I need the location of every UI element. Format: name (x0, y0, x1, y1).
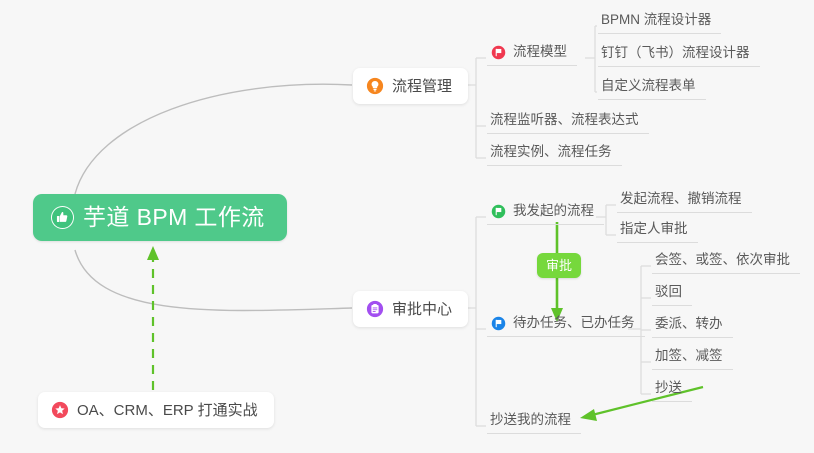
node-reject[interactable]: 驳回 (652, 281, 692, 306)
label-bpmn-designer: BPMN 流程设计器 (601, 12, 711, 28)
flag-icon (491, 316, 506, 331)
node-cc[interactable]: 抄送 (652, 377, 692, 402)
node-instance-task[interactable]: 流程实例、流程任务 (487, 141, 622, 166)
root-node[interactable]: 芋道 BPM 工作流 (33, 194, 287, 241)
branch-label-process-management: 流程管理 (392, 79, 452, 94)
label-todo-done-tasks: 待办任务、已办任务 (513, 315, 635, 331)
flag-icon (491, 45, 506, 60)
clipboard-icon (366, 300, 384, 318)
edge-root-to-approval-center (75, 250, 352, 311)
callout-arrowhead (147, 246, 159, 260)
node-assignee-approval[interactable]: 指定人审批 (617, 218, 698, 243)
branch-node-approval-center[interactable]: 审批中心 (353, 291, 468, 327)
label-instance-task: 流程实例、流程任务 (490, 144, 612, 160)
label-start-cancel-process: 发起流程、撤销流程 (620, 191, 742, 207)
flag-icon (491, 204, 506, 219)
node-process-model[interactable]: 流程模型 (487, 41, 577, 66)
annotation-arrowhead-cc (580, 409, 597, 421)
node-cc-to-me[interactable]: 抄送我的流程 (487, 409, 581, 434)
branch-node-process-management[interactable]: 流程管理 (353, 68, 468, 104)
label-add-remove-sign: 加签、减签 (655, 348, 723, 364)
label-process-model: 流程模型 (513, 44, 567, 60)
node-add-remove-sign[interactable]: 加签、减签 (652, 345, 733, 370)
root-label: 芋道 BPM 工作流 (83, 206, 265, 229)
star-icon (51, 401, 69, 419)
node-custom-process-form[interactable]: 自定义流程表单 (598, 75, 706, 100)
mindmap-canvas: 芋道 BPM 工作流 流程管理 流程模型 BPMN 流程设计器 钉钉（飞书）流程 (0, 0, 814, 453)
node-listener-expression[interactable]: 流程监听器、流程表达式 (487, 109, 649, 134)
label-listener-expression: 流程监听器、流程表达式 (490, 112, 639, 128)
label-assignee-approval: 指定人审批 (620, 221, 688, 237)
edge-root-to-process-management (75, 84, 352, 194)
branch-label-approval-center: 审批中心 (392, 302, 452, 317)
node-my-started-processes[interactable]: 我发起的流程 (487, 200, 604, 225)
label-countersign-or-sequential: 会签、或签、依次审批 (655, 252, 790, 268)
label-cc-to-me: 抄送我的流程 (490, 412, 571, 428)
label-dingtalk-feishu-designer: 钉钉（飞书）流程设计器 (601, 45, 750, 61)
thumbs-up-icon (51, 206, 74, 229)
label-my-started-processes: 我发起的流程 (513, 203, 594, 219)
node-bpmn-designer[interactable]: BPMN 流程设计器 (598, 9, 721, 34)
label-cc: 抄送 (655, 380, 682, 396)
node-todo-done-tasks[interactable]: 待办任务、已办任务 (487, 312, 645, 337)
callout-node-integration[interactable]: OA、CRM、ERP 打通实战 (38, 392, 274, 428)
node-dingtalk-feishu-designer[interactable]: 钉钉（飞书）流程设计器 (598, 42, 760, 67)
node-delegate-transfer[interactable]: 委派、转办 (652, 313, 733, 338)
lightbulb-icon (366, 77, 384, 95)
edge-pm-model-bus (585, 26, 597, 92)
label-custom-process-form: 自定义流程表单 (601, 78, 696, 94)
callout-label: OA、CRM、ERP 打通实战 (77, 403, 258, 418)
label-delegate-transfer: 委派、转办 (655, 316, 723, 332)
label-reject: 驳回 (655, 284, 682, 300)
node-countersign-or-sequential[interactable]: 会签、或签、依次审批 (652, 249, 800, 274)
annotation-chip-approval: 审批 (537, 253, 581, 278)
node-start-cancel-process[interactable]: 发起流程、撤销流程 (617, 188, 752, 213)
